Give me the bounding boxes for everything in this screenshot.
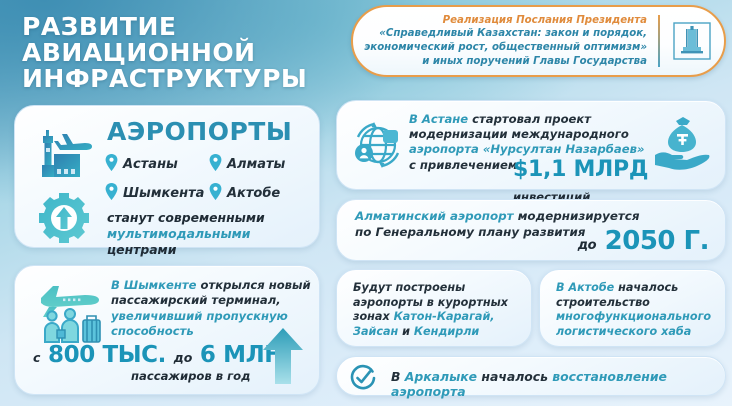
airport-city-almaty: Алматы [209, 154, 313, 175]
map-pin-icon [105, 154, 118, 175]
shymkent-capacity-unit: пассажиров в год [131, 369, 250, 383]
airport-terminal-icon [40, 128, 96, 184]
shymkent-terminal-card: В Шымкенте открылся новый пассажирский т… [14, 265, 320, 395]
airports-footer-highlight: мультимодальными [107, 226, 250, 241]
almaty-year-prefix: до [578, 238, 596, 253]
almaty-target-year: до 2050 Г. [578, 226, 709, 256]
airports-card: АЭРОПОРТЫ Астаны Алматы Шымкента Актобе [14, 105, 320, 248]
resort-description: Будут построены аэропорты в курортных зо… [353, 281, 523, 339]
airports-footer-line-1: станут современными [107, 210, 319, 226]
astana-highlight-airport: аэропорта «Нурсултан Назарбаев» [409, 142, 645, 157]
resort-highlight-3: Кендирли [414, 325, 479, 338]
president-address-banner: Реализация Послания Президента «Справедл… [351, 5, 726, 77]
check-circle-icon [349, 364, 377, 396]
astana-text-2: модернизации международного [409, 127, 645, 142]
airport-city-astana: Астаны [105, 154, 209, 175]
aktobe-text-1: началось [614, 281, 678, 294]
airport-city-label: Алматы [227, 157, 285, 172]
shymkent-capacity-figures: с 800 ТЫС. до 6 МЛН [33, 342, 283, 368]
arkalyk-description: В Аркалыке началось восстановление аэроп… [391, 369, 725, 399]
airport-city-label: Шымкента [123, 186, 204, 201]
resort-text-3: зонах [353, 310, 394, 323]
banner-line-2: «Справедливый Казахстан: закон и порядок… [353, 27, 647, 41]
plane-passengers-icon [33, 280, 107, 348]
resort-conjunction: и [398, 325, 414, 338]
money-bag-hand-icon [651, 115, 713, 177]
aktobe-hub-card: В Актобе началось строительство многофун… [539, 269, 726, 347]
astana-project-card: В Астане стартовал проект модернизации м… [336, 100, 726, 190]
map-pin-icon [209, 154, 222, 175]
resort-airports-card: Будут построены аэропорты в курортных зо… [336, 269, 532, 347]
airport-city-label: Актобе [227, 186, 280, 201]
page-title-line-1: РАЗВИТИЕ [22, 14, 322, 40]
airports-footer-line-2: центрами [107, 242, 176, 257]
banner-line-1: Реализация Послания Президента [353, 14, 647, 28]
page-title-line-3: ИНФРАСТРУКТУРЫ [22, 66, 322, 92]
almaty-text-1: модернизируется [514, 209, 640, 223]
airports-footer: станут современными мультимодальными цен… [107, 210, 319, 258]
arkalyk-highlight-city: Аркалыке [405, 369, 477, 384]
resort-text-1: Будут построены [353, 281, 523, 296]
astana-text-1: стартовал проект [468, 112, 591, 126]
resort-highlight-1: Катон-Карагай, [394, 310, 495, 323]
banner-text: Реализация Послания Президента «Справедл… [353, 14, 658, 68]
shymkent-highlight-city: В Шымкенте [111, 278, 196, 292]
arkalyk-text-1: В [391, 369, 405, 384]
arkalyk-text-2: началось [477, 369, 552, 384]
page-title: РАЗВИТИЕ АВИАЦИОННОЙ ИНФРАСТРУКТУРЫ [22, 14, 322, 92]
aktobe-highlight-hub: многофункционального логистического хаба [556, 310, 721, 339]
aktobe-text-2: строительство [556, 296, 721, 311]
almaty-airport-card: Алматинский аэропорт модернизируется по … [336, 199, 726, 261]
resort-text-2: аэропорты в курортных [353, 296, 523, 311]
shymkent-from-prefix: с [33, 350, 40, 365]
airports-city-list: Астаны Алматы Шымкента Актобе [105, 154, 313, 204]
banner-line-4: и иных поручений Главы Государства [353, 55, 647, 69]
almaty-highlight: Алматинский аэропорт [355, 209, 514, 223]
airport-city-shymkent: Шымкента [105, 183, 209, 204]
up-arrow-icon [263, 328, 303, 388]
almaty-year-value: 2050 Г. [605, 226, 709, 256]
shymkent-from-value: 800 ТЫС. [48, 342, 166, 368]
globe-network-icon [349, 117, 407, 179]
astana-highlight-city: В Астане [409, 112, 468, 126]
airports-heading: АЭРОПОРТЫ [107, 117, 292, 146]
aktobe-highlight-city: В Актобе [556, 281, 614, 294]
gear-upgrade-icon [38, 192, 90, 248]
akorda-building-icon [660, 20, 724, 62]
astana-amount-value: $1,1 МЛРД [513, 157, 648, 182]
shymkent-to-prefix: до [174, 350, 193, 365]
resort-highlight-2: Зайсан [353, 325, 398, 338]
airport-city-aktobe: Актобе [209, 183, 313, 204]
banner-line-3: экономический рост, общественный оптимиз… [353, 41, 647, 55]
shymkent-text-1: открылся новый [196, 278, 310, 292]
page-title-line-2: АВИАЦИОННОЙ [22, 40, 322, 66]
aktobe-description: В Актобе началось строительство многофун… [556, 281, 721, 339]
airport-city-label: Астаны [123, 157, 178, 172]
map-pin-icon [105, 183, 118, 204]
map-pin-icon [209, 183, 222, 204]
shymkent-text-2: пассажирский терминал, [111, 293, 311, 308]
arkalyk-card: В Аркалыке началось восстановление аэроп… [336, 356, 726, 396]
